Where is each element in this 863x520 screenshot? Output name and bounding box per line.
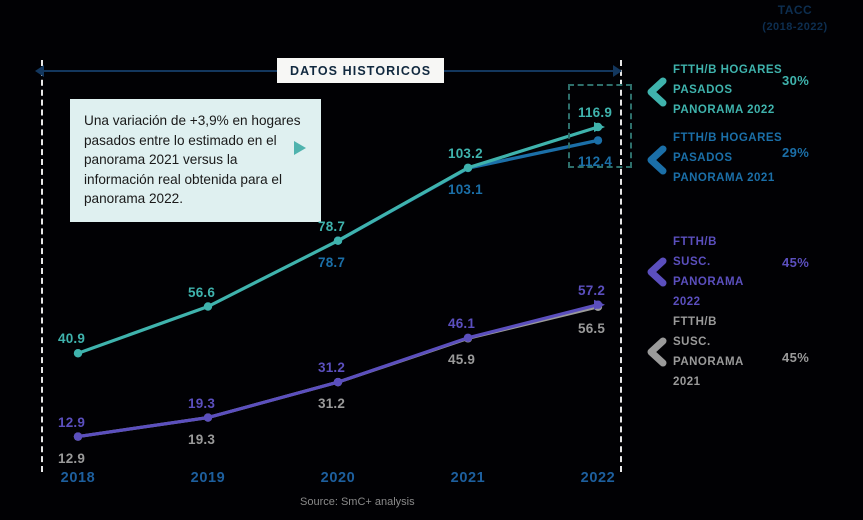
chart-canvas: TACC (2018-2022) DATOS HISTORICOS Una va… bbox=[0, 0, 863, 520]
x-axis-label: 2019 bbox=[191, 470, 226, 486]
data-label: 19.3 bbox=[188, 396, 215, 411]
source-note: Source: SmC+ analysis bbox=[300, 496, 415, 508]
series-point bbox=[204, 413, 212, 421]
data-label: 12.9 bbox=[58, 415, 85, 430]
data-label: 19.3 bbox=[188, 432, 215, 447]
x-axis-label: 2020 bbox=[321, 470, 356, 486]
data-label: 78.7 bbox=[318, 255, 345, 270]
tacc-range: (2018-2022) bbox=[735, 19, 855, 36]
data-label: 45.9 bbox=[448, 352, 475, 367]
x-axis-label: 2022 bbox=[581, 470, 616, 486]
series-point bbox=[464, 164, 472, 172]
legend-tacc-value: 45% bbox=[782, 350, 809, 365]
legend-tacc-value: 30% bbox=[782, 73, 809, 88]
data-label: 78.7 bbox=[318, 219, 345, 234]
legend-label: FTTH/B HOGARESPASADOSPANORAMA 2021 bbox=[673, 128, 783, 188]
data-label: 56.5 bbox=[578, 321, 605, 336]
legend-tacc-value: 45% bbox=[782, 255, 809, 270]
series-point bbox=[74, 432, 82, 440]
data-label: 31.2 bbox=[318, 360, 345, 375]
x-axis-label: 2018 bbox=[61, 470, 96, 486]
highlight-rect-2022 bbox=[568, 84, 632, 168]
legend-label: FTTH/B HOGARESPASADOSPANORAMA 2022 bbox=[673, 60, 783, 120]
tacc-title: TACC bbox=[735, 2, 855, 19]
series-point bbox=[204, 302, 212, 310]
legend-tacc-value: 29% bbox=[782, 145, 809, 160]
data-label: 40.9 bbox=[58, 331, 85, 346]
data-label: 31.2 bbox=[318, 396, 345, 411]
series-point bbox=[74, 349, 82, 357]
series-point bbox=[464, 334, 472, 342]
data-label: 46.1 bbox=[448, 316, 475, 331]
legend-label: FTTH/BSUSC.PANORAMA2021 bbox=[673, 312, 783, 392]
legend-label: FTTH/BSUSC.PANORAMA2022 bbox=[673, 232, 783, 312]
data-label: 57.2 bbox=[578, 283, 605, 298]
series-point bbox=[334, 378, 342, 386]
x-axis-label: 2021 bbox=[451, 470, 486, 486]
data-label: 103.2 bbox=[448, 146, 483, 161]
series-point bbox=[334, 237, 342, 245]
data-label: 103.1 bbox=[448, 182, 483, 197]
data-label: 12.9 bbox=[58, 451, 85, 466]
plot-area: 40.956.678.7103.2116.978.7103.1112.412.9… bbox=[0, 0, 640, 480]
data-label: 56.6 bbox=[188, 285, 215, 300]
tacc-header: TACC (2018-2022) bbox=[735, 2, 855, 36]
